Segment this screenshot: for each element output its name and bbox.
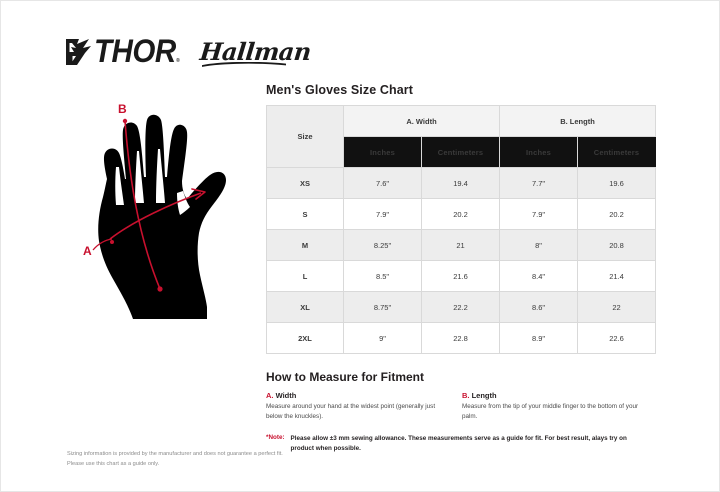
how-length-letter: B.	[462, 391, 470, 400]
how-width-text: Measure around your hand at the widest p…	[266, 402, 452, 422]
brand-logo-bar: THOR ® Hallman	[63, 31, 311, 73]
cell-length-inches: 8.4"	[500, 261, 578, 292]
how-width-letter: A.	[266, 391, 274, 400]
hand-measurement-illustration: B A	[63, 93, 263, 333]
cell-size: S	[267, 199, 344, 230]
cell-width-inches: 8.25"	[344, 230, 422, 261]
width-line-dot	[110, 240, 114, 244]
cell-width-inches: 7.6"	[344, 168, 422, 199]
header-width-inches: Inches	[344, 137, 422, 168]
cell-width-inches: 7.9"	[344, 199, 422, 230]
how-length-text: Measure from the tip of your middle fing…	[462, 402, 648, 422]
cell-size: 2XL	[267, 323, 344, 354]
hand-silhouette-icon: B A	[63, 93, 263, 333]
table-head: Size A. Width B. Length Inches Centimete…	[267, 106, 656, 168]
header-length-inches: Inches	[500, 137, 578, 168]
length-line-end-dot	[157, 286, 162, 291]
table-row: L 8.5" 21.6 8.4" 21.4	[267, 261, 656, 292]
cell-width-centimeters: 21.6	[422, 261, 500, 292]
cell-length-inches: 7.9"	[500, 199, 578, 230]
cell-length-centimeters: 22.6	[578, 323, 656, 354]
header-group-width: A. Width	[344, 106, 500, 137]
cell-width-centimeters: 20.2	[422, 199, 500, 230]
cell-length-centimeters: 20.2	[578, 199, 656, 230]
how-to-measure-columns: A. Width Measure around your hand at the…	[266, 391, 658, 422]
cell-length-centimeters: 22	[578, 292, 656, 323]
size-chart-page: THOR ® Hallman	[0, 0, 720, 492]
length-line-start-dot	[123, 119, 127, 123]
thor-hammer-icon	[63, 36, 93, 68]
cell-size: XS	[267, 168, 344, 199]
cell-length-inches: 8.6"	[500, 292, 578, 323]
table-body: XS 7.6" 19.4 7.7" 19.6 S 7.9" 20.2 7.9" …	[267, 168, 656, 354]
table-row: XS 7.6" 19.4 7.7" 19.6	[267, 168, 656, 199]
table-row: S 7.9" 20.2 7.9" 20.2	[267, 199, 656, 230]
how-width-label: A. Width	[266, 391, 452, 400]
header-width-centimeters: Centimeters	[422, 137, 500, 168]
footer-disclaimer: Sizing information is provided by the ma…	[67, 449, 397, 469]
thor-trademark: ®	[176, 58, 180, 64]
cell-length-centimeters: 20.8	[578, 230, 656, 261]
footer-line-1: Sizing information is provided by the ma…	[67, 449, 397, 459]
thor-wordmark: THOR	[94, 36, 176, 68]
table-row: 2XL 9" 22.8 8.9" 22.6	[267, 323, 656, 354]
figure-label-a: A	[83, 244, 92, 258]
cell-width-inches: 9"	[344, 323, 422, 354]
figure-label-b: B	[118, 102, 127, 116]
size-chart-table: Size A. Width B. Length Inches Centimete…	[266, 105, 656, 354]
footer-line-2: Please use this chart as a guide only.	[67, 459, 397, 469]
hallman-wordmark: Hallman	[199, 40, 312, 64]
hallman-logo: Hallman	[200, 40, 311, 65]
table-row: M 8.25" 21 8" 20.8	[267, 230, 656, 261]
table-row: XL 8.75" 22.2 8.6" 22	[267, 292, 656, 323]
how-width-name: Width	[274, 391, 297, 400]
cell-width-centimeters: 19.4	[422, 168, 500, 199]
cell-length-inches: 8.9"	[500, 323, 578, 354]
cell-size: L	[267, 261, 344, 292]
how-to-measure-length: B. Length Measure from the tip of your m…	[462, 391, 658, 422]
cell-size: M	[267, 230, 344, 261]
cell-length-centimeters: 19.6	[578, 168, 656, 199]
cell-width-centimeters: 21	[422, 230, 500, 261]
how-to-measure-width: A. Width Measure around your hand at the…	[266, 391, 462, 422]
chart-content: Men's Gloves Size Chart Size A. Width B.…	[266, 83, 658, 454]
cell-length-inches: 7.7"	[500, 168, 578, 199]
cell-width-inches: 8.5"	[344, 261, 422, 292]
cell-width-centimeters: 22.2	[422, 292, 500, 323]
page-title: Men's Gloves Size Chart	[266, 83, 658, 97]
cell-width-centimeters: 22.8	[422, 323, 500, 354]
how-length-name: Length	[470, 391, 497, 400]
cell-length-inches: 8"	[500, 230, 578, 261]
thor-logo: THOR ®	[63, 36, 180, 68]
hallman-swash-icon	[202, 62, 286, 67]
table-header-row-groups: Size A. Width B. Length	[267, 106, 656, 137]
how-length-label: B. Length	[462, 391, 648, 400]
header-group-length: B. Length	[500, 106, 656, 137]
cell-length-centimeters: 21.4	[578, 261, 656, 292]
header-size: Size	[267, 106, 344, 168]
cell-width-inches: 8.75"	[344, 292, 422, 323]
how-to-measure-title: How to Measure for Fitment	[266, 370, 658, 384]
header-length-centimeters: Centimeters	[578, 137, 656, 168]
cell-size: XL	[267, 292, 344, 323]
